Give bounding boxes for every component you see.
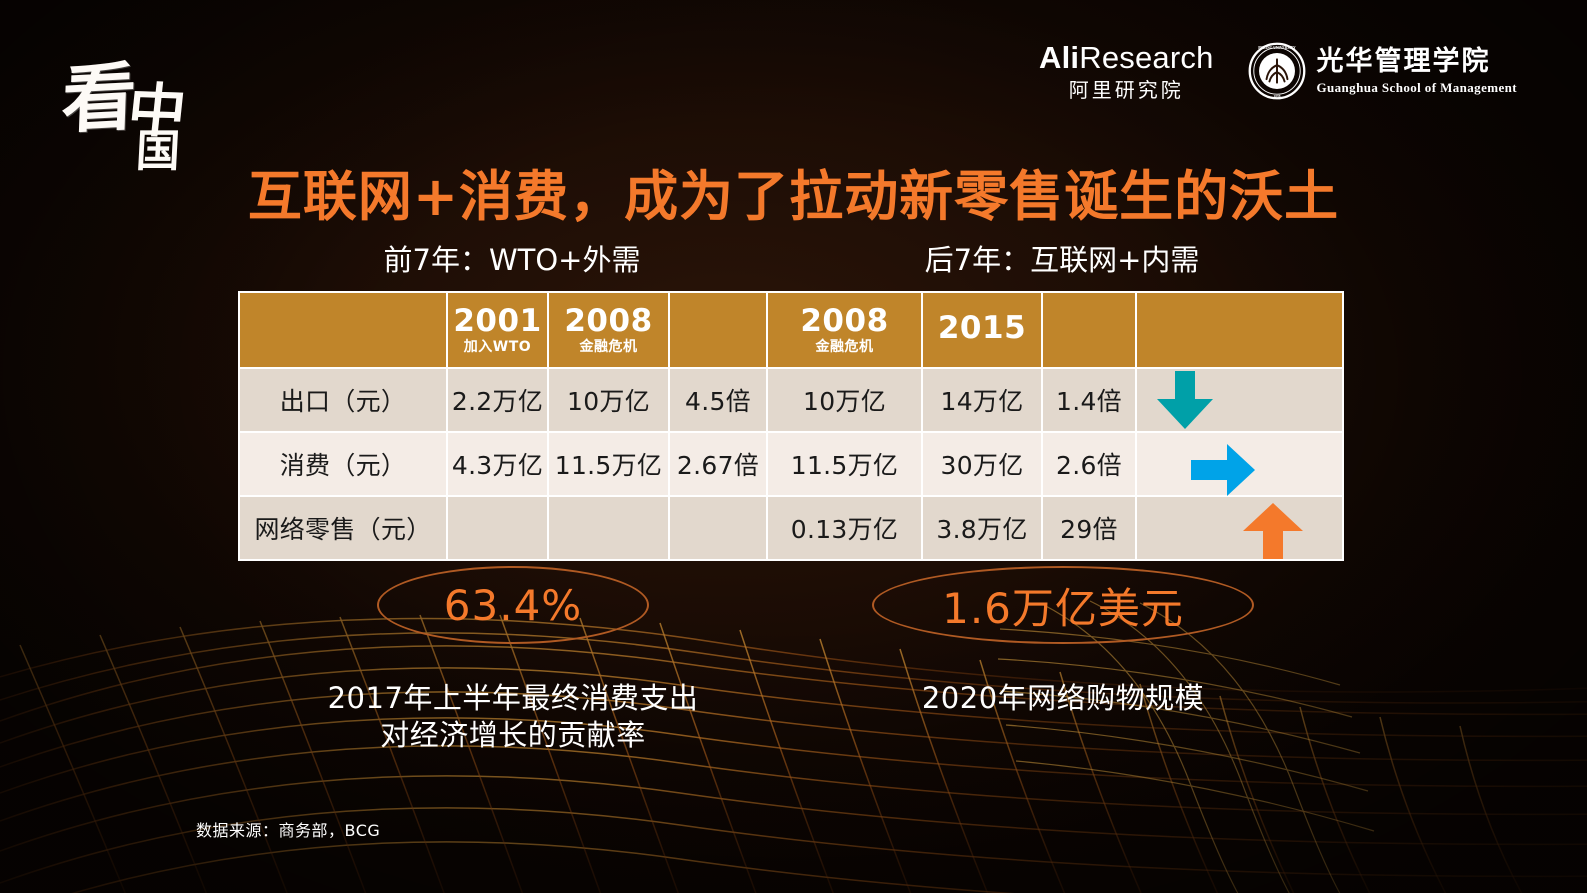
guanghua-english-name: Guanghua School of Management: [1317, 81, 1517, 94]
down-arrow-icon: [1157, 371, 1213, 429]
slide-canvas: 看 中 国 AliResearch 阿里研究院 PEK: [0, 0, 1587, 893]
stat-caption-1-line1: 2017年上半年最终消费支出: [238, 680, 788, 717]
comparison-table-wrapper: 2001 加入WTO 2008 金融危机 2008 金融危机 2015: [238, 291, 1338, 561]
ali-research-wordmark: AliResearch: [1039, 42, 1214, 73]
cell-export-2015: 14万亿: [923, 369, 1041, 431]
cell-consumption-2001: 4.3万亿: [448, 433, 547, 495]
header-cell-2008-first: 2008 金融危机: [549, 293, 668, 367]
guanghua-logo: PEKING UNIVERSITY 1898 光华管理学院 Guanghua S…: [1248, 42, 1517, 100]
source-note: 数据来源：商务部，BCG: [196, 817, 380, 841]
stat-caption-2: 2020年网络购物规模: [788, 680, 1338, 717]
table-section-subtitles: 前7年：WTO+外需 后7年：互联网+内需: [238, 237, 1338, 279]
right-arrow-icon: [1191, 444, 1255, 496]
header-cell-trend: [1137, 293, 1342, 367]
cell-online-ratio1: [670, 497, 766, 559]
subtitle-first-period: 前7年：WTO+外需: [238, 237, 786, 279]
cell-online-2008a: [549, 497, 668, 559]
comparison-table: 2001 加入WTO 2008 金融危机 2008 金融危机 2015: [238, 291, 1344, 561]
cell-export-ratio1: 4.5倍: [670, 369, 766, 431]
table-row-consumption: 消费（元） 4.3万亿 11.5万亿 2.67倍 11.5万亿 30万亿 2.6…: [240, 433, 1342, 495]
partner-logos: AliResearch 阿里研究院 PEKING UNIVERSITY 1898: [1039, 42, 1517, 100]
stat-consumption-contribution: 63.4% 2017年上半年最终消费支出 对经济增长的贡献率: [238, 566, 788, 754]
guanghua-chinese-name: 光华管理学院: [1317, 48, 1517, 75]
table-header-row: 2001 加入WTO 2008 金融危机 2008 金融危机 2015: [240, 293, 1342, 367]
cell-consumption-ratio2: 2.6倍: [1043, 433, 1135, 495]
cell-consumption-2008a: 11.5万亿: [549, 433, 668, 495]
stat-value-2: 1.6万亿美元: [942, 575, 1184, 636]
header-cell-ratio-first: [670, 293, 766, 367]
cell-export-trend: [1137, 369, 1342, 431]
stat-ellipse-2: 1.6万亿美元: [872, 566, 1254, 644]
ali-wordmark-light: Research: [1079, 40, 1213, 75]
cell-consumption-2008b: 11.5万亿: [768, 433, 921, 495]
svg-text:PEKING UNIVERSITY: PEKING UNIVERSITY: [1258, 46, 1296, 50]
stat-callouts: 63.4% 2017年上半年最终消费支出 对经济增长的贡献率 1.6万亿美元 2…: [238, 566, 1338, 754]
stat-caption-2-line1: 2020年网络购物规模: [788, 680, 1338, 717]
cell-online-2008b: 0.13万亿: [768, 497, 921, 559]
slide-title: 互联网+消费，成为了拉动新零售诞生的沃土: [0, 152, 1587, 231]
row-label-consumption: 消费（元）: [240, 433, 446, 495]
header-cell-2015: 2015: [923, 293, 1041, 367]
ali-wordmark-bold: Ali: [1039, 40, 1079, 75]
up-arrow-icon: [1243, 503, 1303, 559]
cell-consumption-ratio1: 2.67倍: [670, 433, 766, 495]
cell-consumption-2015: 30万亿: [923, 433, 1041, 495]
cell-online-2001: [448, 497, 547, 559]
header-cell-ratio-second: [1043, 293, 1135, 367]
header-cell-2001: 2001 加入WTO: [448, 293, 547, 367]
header-cell-label: [240, 293, 446, 367]
stat-caption-1-line2: 对经济增长的贡献率: [238, 717, 788, 754]
cell-online-ratio2: 29倍: [1043, 497, 1135, 559]
ali-research-chinese: 阿里研究院: [1039, 80, 1214, 100]
peking-university-seal-icon: PEKING UNIVERSITY 1898: [1248, 42, 1306, 100]
ali-research-logo: AliResearch 阿里研究院: [1039, 42, 1214, 100]
row-label-export: 出口（元）: [240, 369, 446, 431]
row-label-online-retail: 网络零售（元）: [240, 497, 446, 559]
stat-caption-1: 2017年上半年最终消费支出 对经济增长的贡献率: [238, 680, 788, 754]
stat-value-1: 63.4%: [444, 581, 582, 630]
cell-export-ratio2: 1.4倍: [1043, 369, 1135, 431]
cell-export-2008a: 10万亿: [549, 369, 668, 431]
cell-consumption-trend: [1137, 433, 1342, 495]
subtitle-second-period: 后7年：互联网+内需: [786, 237, 1338, 279]
cell-export-2001: 2.2万亿: [448, 369, 547, 431]
table-row-export: 出口（元） 2.2万亿 10万亿 4.5倍 10万亿 14万亿 1.4倍: [240, 369, 1342, 431]
cell-online-trend: [1137, 497, 1342, 559]
stat-online-shopping-scale: 1.6万亿美元 2020年网络购物规模: [788, 566, 1338, 754]
cell-online-2015: 3.8万亿: [923, 497, 1041, 559]
cell-export-2008b: 10万亿: [768, 369, 921, 431]
svg-text:1898: 1898: [1273, 94, 1280, 98]
stat-ellipse-1: 63.4%: [377, 566, 649, 644]
header-cell-2008-second: 2008 金融危机: [768, 293, 921, 367]
table-row-online-retail: 网络零售（元） 0.13万亿 3.8万亿 29倍: [240, 497, 1342, 559]
